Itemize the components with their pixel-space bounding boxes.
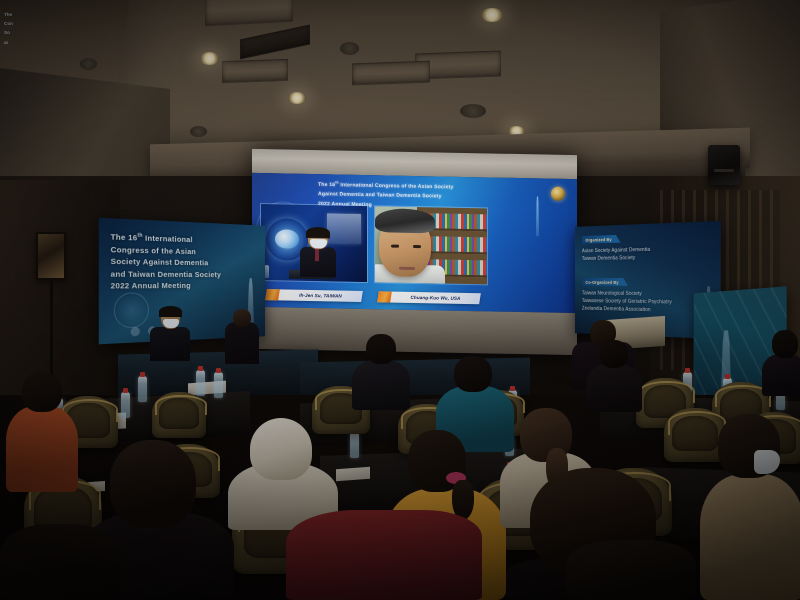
presenter-hair: [375, 208, 435, 233]
name-label-right: Chuang-Kuo Wu, USA: [377, 291, 481, 304]
water-bottle: [121, 392, 130, 418]
ceiling-downlight: [80, 58, 97, 70]
co-organizer-item: Zeelandia Dementia Association: [582, 306, 651, 313]
face-mask-icon: [310, 239, 327, 248]
organized-by-tag: Organized By: [582, 235, 616, 244]
water-bottle: [214, 372, 223, 398]
projected-slide: The 16th International Congress of the A…: [252, 173, 577, 313]
sponsor-logo-icon: [131, 326, 140, 336]
presenter-eye: [413, 245, 421, 248]
attendee-head: [772, 330, 798, 358]
banner-small-line3: So: [4, 30, 10, 35]
stage-attendee: [225, 322, 259, 364]
attendee-head: [366, 334, 396, 364]
ceiling-air-vent: [205, 0, 293, 26]
attendee-torso: [352, 360, 410, 410]
banner-left-line1-pre: The 16: [111, 232, 138, 242]
banner-left-line3: Society Against Dementia: [111, 257, 209, 268]
banner-left-line1-post: International: [143, 233, 193, 244]
attendee-torso: [586, 364, 642, 412]
attendee-right-far: [762, 330, 800, 396]
video-feed-right: [374, 205, 488, 285]
banner-left-line5: 2022 Annual Meeting: [111, 281, 191, 291]
attendee-head: [110, 440, 196, 528]
water-bottle: [138, 376, 147, 402]
ceiling-air-vent: [352, 61, 430, 86]
moderator: [150, 308, 190, 360]
organizer-item: Asian Society Against Dementia: [582, 247, 650, 254]
speaker-hair: [306, 227, 330, 238]
attendee-masked-tan-shirt: [700, 414, 800, 600]
attendee-right-rear: [586, 340, 642, 412]
projection-screen: The 16th International Congress of the A…: [252, 149, 577, 355]
attendee-bottom-left: [0, 524, 120, 600]
name-label-accent: [377, 291, 392, 302]
loudspeaker-icon: [708, 145, 740, 185]
attendee-head: [22, 372, 62, 412]
banner-left-text: The 16th International Congress of the A…: [111, 231, 255, 292]
feed-left-speaker: [299, 229, 337, 278]
society-seal-icon: [551, 187, 565, 201]
speaker-tie: [315, 248, 319, 261]
attendee-torso: [566, 540, 696, 600]
name-label-accent: [265, 289, 280, 300]
water-bottle: [350, 432, 359, 458]
attendee-torso: [700, 474, 800, 600]
conference-hall-photo: The 16th International Congress of the A…: [0, 0, 800, 600]
ceiling-downlight: [340, 42, 359, 55]
banner-left-line2: Congress of the Asian: [111, 244, 196, 255]
slide-title-line1-pre: The 16: [318, 182, 335, 188]
ceiling-downlight: [288, 92, 306, 104]
banner-small-line1: The: [4, 12, 12, 17]
moderator-torso: [150, 327, 190, 361]
video-feed-left: [260, 203, 368, 283]
banner-small-line4: ar: [4, 40, 8, 45]
ceiling-air-vent: [222, 59, 288, 83]
name-label-left: Ih-Jen Su, TAIWAN: [265, 289, 363, 302]
banner-left-line4: and Taiwan Dementia Society: [111, 269, 221, 279]
co-organized-by-tag: Co-Organized By: [582, 278, 623, 286]
name-label-right-text: Chuang-Kuo Wu, USA: [391, 295, 480, 302]
attendee-head: [600, 340, 628, 368]
face-mask-icon: [754, 450, 780, 474]
presenter-mouth: [399, 267, 415, 270]
water-bottle: [196, 370, 205, 396]
attendee-bottom-right: [566, 540, 696, 600]
name-label-left-text: Ih-Jen Su, TAIWAN: [279, 292, 362, 299]
co-organizer-item: Taiwan Neurological Society: [582, 291, 642, 297]
ceiling-downlight: [460, 104, 486, 118]
chair[interactable]: [152, 392, 206, 438]
attendee-torso: [762, 354, 800, 396]
banner-small-text: The Con So ar: [4, 10, 26, 47]
moderator-hair: [159, 306, 182, 317]
organizer-item: Taiwan Dementia Society: [582, 255, 635, 262]
attendee-head: [454, 356, 492, 392]
slide-title-line1-post: International Congress of the Asian Soci…: [339, 182, 454, 190]
attendee-torso: [6, 406, 78, 492]
hijab-head-covering: [250, 418, 312, 480]
presenter-eye: [391, 245, 399, 248]
co-organizer-item: Taiwanese Society of Geriatric Psychiatr…: [582, 298, 672, 305]
handout-paper: [336, 467, 370, 481]
ceiling-downlight: [200, 52, 219, 65]
slide-title-line2: Against Dementia and Taiwan Dementia Soc…: [318, 191, 442, 199]
attendee-torso: [286, 510, 482, 600]
framed-art-icon: [36, 232, 66, 280]
organized-by-list: Asian Society Against Dementia Taiwan De…: [582, 244, 714, 263]
ceiling-downlight: [481, 8, 503, 22]
attendee-torso: [0, 524, 120, 600]
cable-run: [50, 280, 53, 380]
attendee-orange-shirt: [6, 372, 78, 492]
screen-lower-blank-area: [252, 307, 577, 355]
attendee-foreground-red-garment: [286, 502, 482, 600]
attendee-dark-shirt-center: [352, 334, 410, 410]
ceiling-downlight: [190, 126, 207, 137]
banner-small-line2: Con: [4, 21, 13, 26]
